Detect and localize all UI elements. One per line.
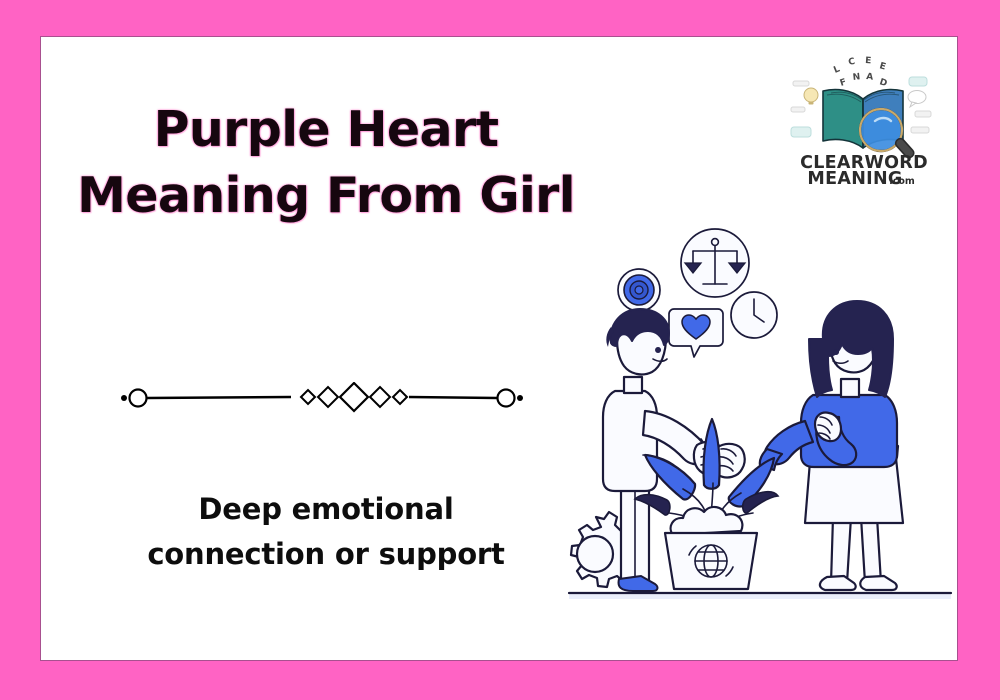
heart-bubble-icon <box>669 309 723 357</box>
clock-icon <box>731 292 777 338</box>
scattered-letters: L C E E F N A D <box>832 56 888 89</box>
headline-block: Purple Heart Meaning From Girl <box>41 97 611 229</box>
logo-brand-line2-group: MEANING .com <box>807 169 915 185</box>
lightbulb-icon <box>804 88 818 105</box>
svg-text:F: F <box>839 77 848 88</box>
illustration-svg: .ln { fill:none; stroke:#1b1a3a; stroke-… <box>561 187 961 627</box>
logo-brand-suffix: .com <box>889 176 915 185</box>
ornamental-divider <box>116 382 536 414</box>
svg-text:A: A <box>866 72 874 83</box>
magnifying-glass-icon <box>860 109 915 159</box>
svg-text:E: E <box>878 61 887 72</box>
white-content-card: L C E E F N A D <box>40 36 958 661</box>
svg-text:E: E <box>865 56 872 66</box>
page-title: Purple Heart Meaning From Girl <box>41 97 611 229</box>
svg-text:L: L <box>832 64 841 76</box>
subtitle-text: Deep emotional connection or support <box>41 487 611 577</box>
logo-svg: L C E E F N A D <box>789 55 939 185</box>
poster-canvas: L C E E F N A D <box>0 0 1000 700</box>
svg-text:N: N <box>852 72 861 83</box>
chat-bubble-icon <box>908 91 926 108</box>
svg-text:C: C <box>848 57 857 68</box>
target-icon <box>618 269 660 311</box>
svg-text:D: D <box>878 77 888 89</box>
handshake-agreement-illustration: .ln { fill:none; stroke:#1b1a3a; stroke-… <box>561 187 961 627</box>
scales-icon <box>681 229 749 297</box>
divider-container <box>41 382 611 414</box>
clearword-meaning-logo[interactable]: L C E E F N A D <box>789 55 939 185</box>
